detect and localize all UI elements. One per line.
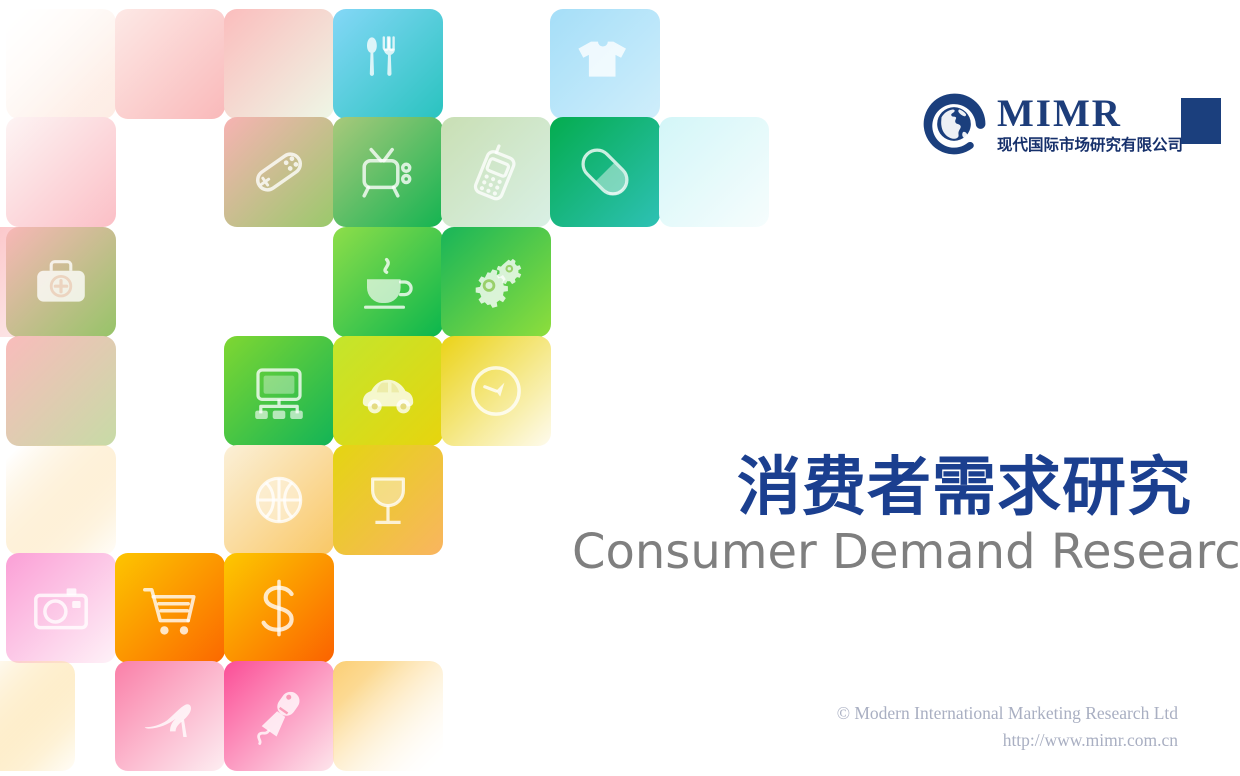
logo-text-block: MIMR 现代国际市场研究有限公司 — [997, 94, 1183, 154]
tile-cutlery — [333, 9, 443, 119]
mimr-globe-logo-icon — [921, 91, 987, 157]
tile-blank-r4c1 — [6, 336, 116, 446]
tile-blank-r1c2 — [115, 9, 225, 119]
basketball-icon — [224, 445, 334, 555]
network-icon — [224, 336, 334, 446]
clock-icon — [441, 336, 551, 446]
tile-cart — [115, 553, 225, 663]
tile-blank-r1c1 — [6, 9, 116, 119]
tile-coffee — [333, 227, 443, 337]
page-title-english: Consumer Demand Research — [572, 526, 1192, 579]
tile-gears — [441, 227, 551, 337]
medical-kit-icon — [6, 227, 116, 337]
tile-dollar — [224, 553, 334, 663]
tile-blank-r2c1 — [6, 117, 116, 227]
icon-mosaic — [0, 0, 790, 776]
camera-icon — [6, 553, 116, 663]
logo-wordmark: MIMR — [997, 94, 1183, 133]
tshirt-icon — [550, 9, 660, 119]
tile-tv — [333, 117, 443, 227]
tile-clock — [441, 336, 551, 446]
highheel-icon — [115, 661, 225, 771]
wineglass-icon — [333, 445, 443, 555]
logo-chinese-name: 现代国际市场研究有限公司 — [997, 138, 1183, 154]
coffee-icon — [333, 227, 443, 337]
tile-basketball — [224, 445, 334, 555]
cutlery-icon — [333, 9, 443, 119]
cart-icon — [115, 553, 225, 663]
logo-accent-block — [1181, 98, 1221, 144]
gamepad-icon — [224, 117, 334, 227]
tile-blank-r7c0 — [0, 661, 75, 771]
tile-mobile — [441, 117, 551, 227]
microphone-icon — [224, 661, 334, 771]
tile-pill — [550, 117, 660, 227]
tile-blank-r2c7 — [659, 117, 769, 227]
company-logo[interactable]: MIMR 现代国际市场研究有限公司 — [921, 88, 1221, 160]
tile-gamepad — [224, 117, 334, 227]
tile-wineglass — [333, 445, 443, 555]
tile-network — [224, 336, 334, 446]
car-icon — [333, 336, 443, 446]
tile-blank-r1c3 — [224, 9, 334, 119]
tile-highheel — [115, 661, 225, 771]
tile-blank-r7c4 — [333, 661, 443, 771]
tile-microphone — [224, 661, 334, 771]
pill-icon — [550, 117, 660, 227]
tile-medical-kit — [6, 227, 116, 337]
tile-camera — [6, 553, 116, 663]
tile-car — [333, 336, 443, 446]
gears-icon — [441, 227, 551, 337]
tile-tshirt — [550, 9, 660, 119]
page-title-chinese: 消费者需求研究 — [572, 455, 1192, 522]
footer-copyright: © Modern International Marketing Researc… — [837, 700, 1178, 727]
footer-website[interactable]: http://www.mimr.com.cn — [837, 727, 1178, 754]
dollar-icon — [224, 553, 334, 663]
slide-root: MIMR 现代国际市场研究有限公司 消费者需求研究 Consumer Deman… — [0, 0, 1240, 776]
tile-blank-r5c1 — [6, 445, 116, 555]
title-block: 消费者需求研究 Consumer Demand Research — [572, 455, 1192, 579]
tv-icon — [333, 117, 443, 227]
footer: © Modern International Marketing Researc… — [837, 700, 1178, 754]
mobile-icon — [441, 117, 551, 227]
